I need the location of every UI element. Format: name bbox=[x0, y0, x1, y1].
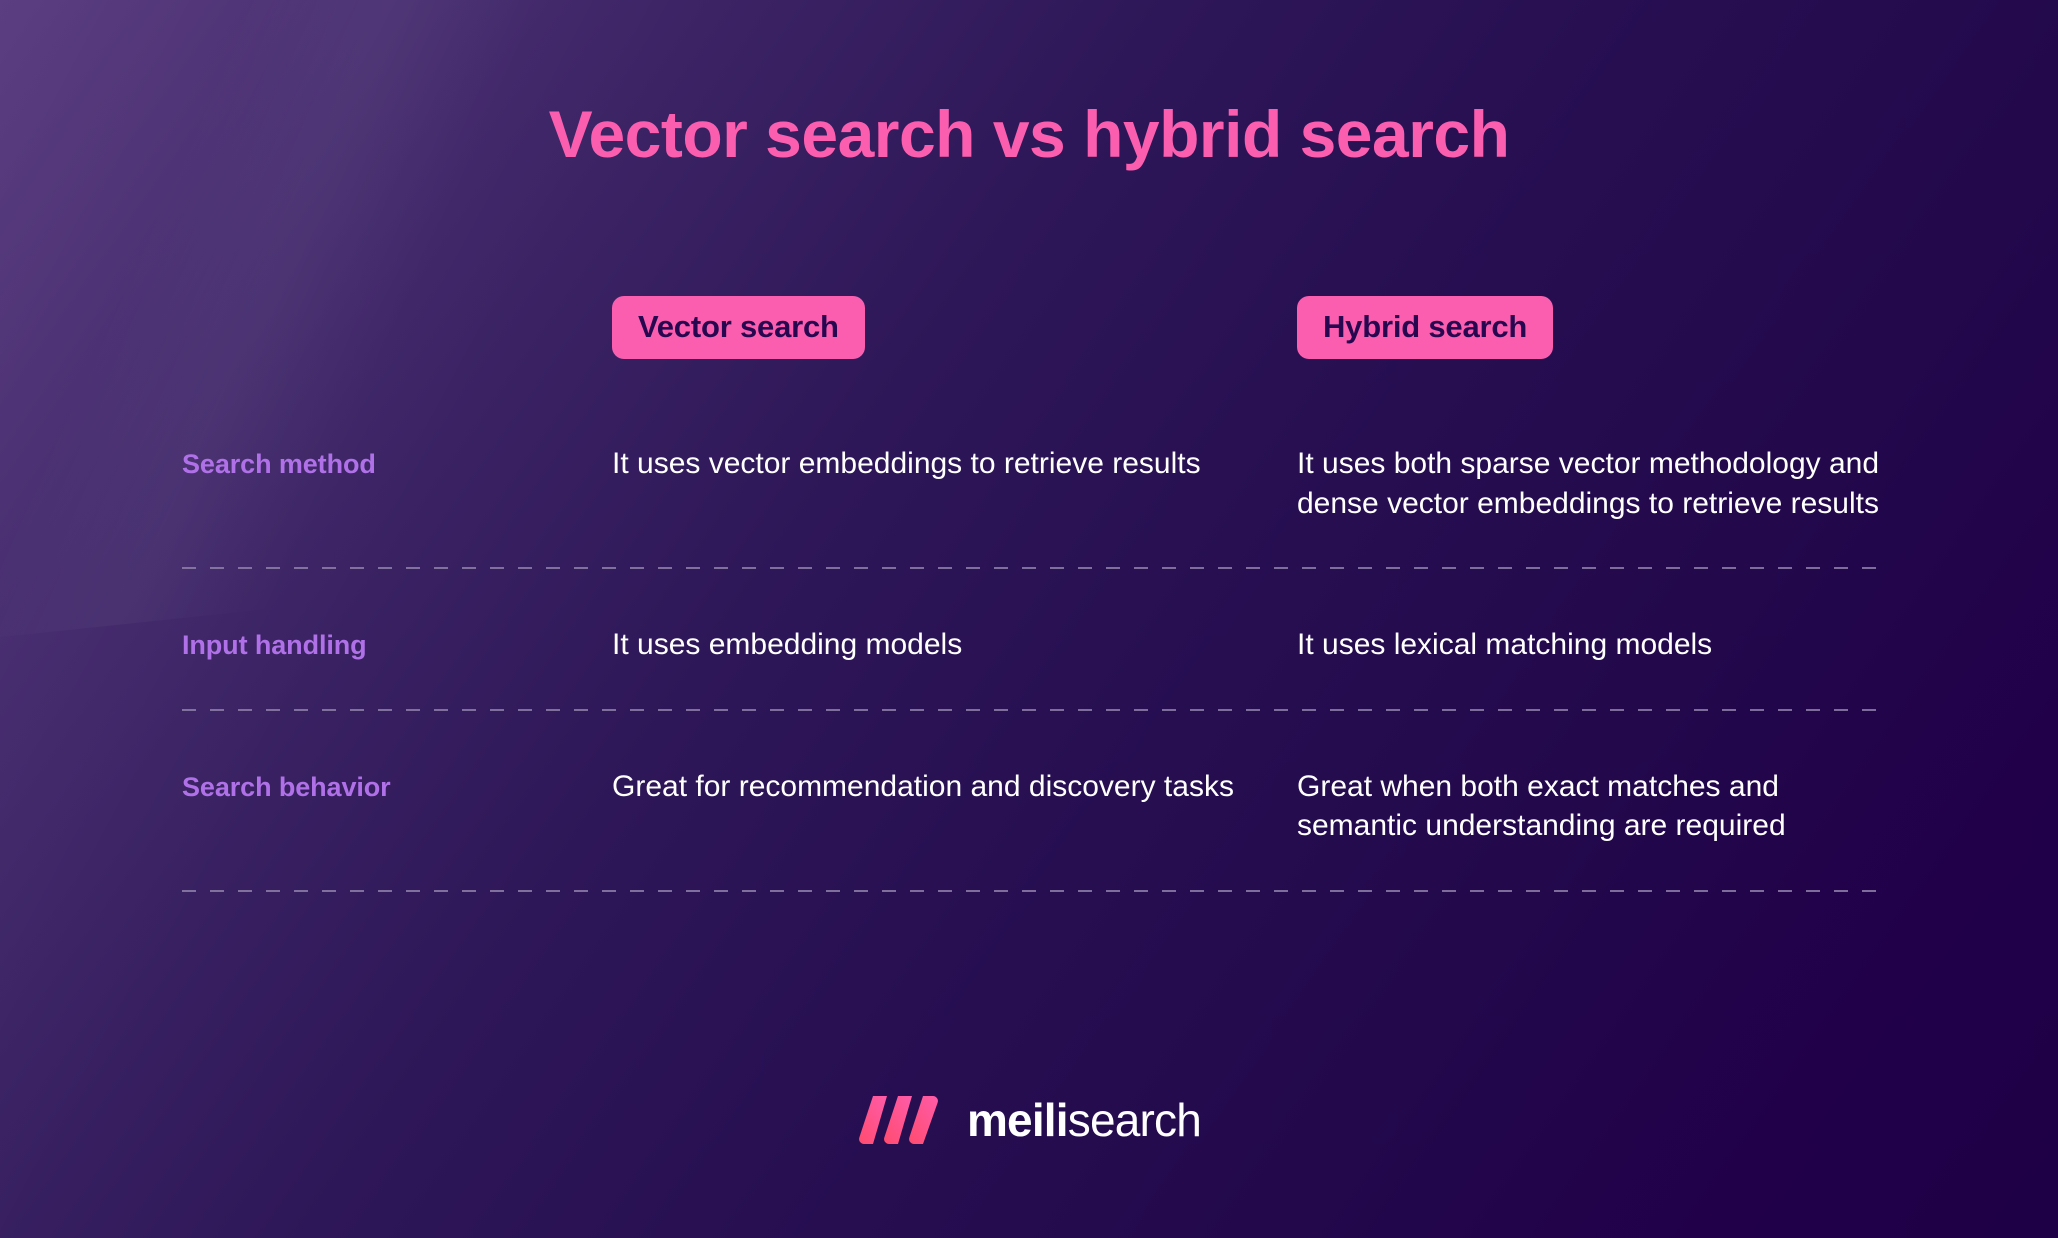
row-cell-vector-input-handling: It uses embedding models bbox=[612, 625, 1297, 665]
row-spacer bbox=[182, 675, 1882, 709]
table-header-row: Vector search Hybrid search bbox=[182, 296, 1882, 388]
infographic-canvas: Vector search vs hybrid search Vector se… bbox=[0, 0, 2058, 1238]
row-spacer bbox=[182, 711, 1882, 767]
row-label-search-behavior: Search behavior bbox=[182, 767, 612, 803]
column-badge-hybrid-search: Hybrid search bbox=[1297, 296, 1553, 359]
wordmark-search: search bbox=[1068, 1094, 1201, 1146]
comparison-table: Vector search Hybrid search Search metho… bbox=[182, 296, 1882, 892]
meilisearch-logo: meilisearch bbox=[0, 1090, 2058, 1150]
row-spacer bbox=[182, 533, 1882, 567]
row-cell-vector-search-behavior: Great for recommendation and discovery t… bbox=[612, 767, 1297, 807]
column-badge-vector-search: Vector search bbox=[612, 296, 865, 359]
row-spacer bbox=[182, 856, 1882, 890]
row-divider bbox=[182, 567, 1882, 569]
table-row: Search behavior Great for recommendation… bbox=[182, 767, 1882, 856]
row-label-input-handling: Input handling bbox=[182, 625, 612, 661]
row-divider bbox=[182, 890, 1882, 892]
row-cell-hybrid-input-handling: It uses lexical matching models bbox=[1297, 625, 1882, 665]
wordmark-meili: meili bbox=[967, 1094, 1068, 1146]
row-divider bbox=[182, 709, 1882, 711]
table-row: Input handling It uses embedding models … bbox=[182, 625, 1882, 675]
meilisearch-wordmark: meilisearch bbox=[967, 1097, 1201, 1143]
header-spacer bbox=[182, 388, 1882, 444]
page-title: Vector search vs hybrid search bbox=[0, 96, 2058, 172]
header-cell-vector: Vector search bbox=[612, 296, 1297, 359]
row-cell-hybrid-search-behavior: Great when both exact matches and semant… bbox=[1297, 767, 1882, 846]
header-cell-hybrid: Hybrid search bbox=[1297, 296, 1882, 359]
meilisearch-logo-mark-icon bbox=[857, 1090, 941, 1150]
row-label-search-method: Search method bbox=[182, 444, 612, 480]
table-row: Search method It uses vector embeddings … bbox=[182, 444, 1882, 533]
row-spacer bbox=[182, 569, 1882, 625]
row-cell-vector-search-method: It uses vector embeddings to retrieve re… bbox=[612, 444, 1297, 484]
row-cell-hybrid-search-method: It uses both sparse vector methodology a… bbox=[1297, 444, 1882, 523]
